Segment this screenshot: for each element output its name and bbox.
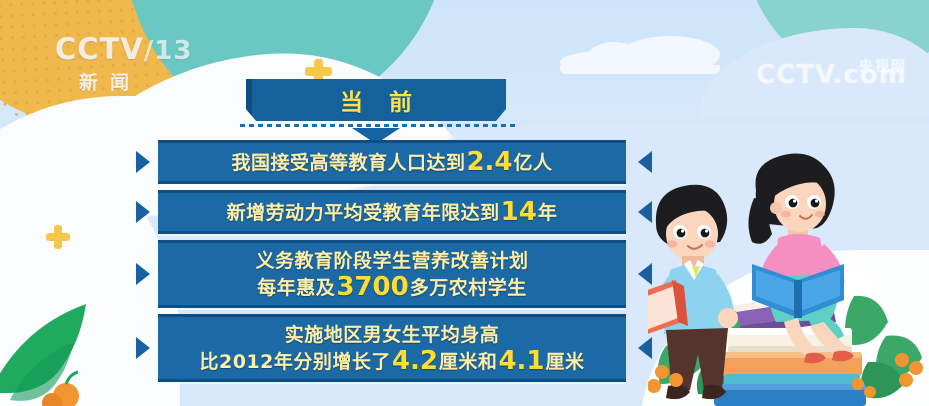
arrow-right-icon: [136, 151, 150, 173]
statistic-value: 4.1: [497, 346, 545, 376]
statistic-value: 14: [500, 197, 538, 227]
statistic-value: 3700: [335, 272, 409, 302]
cctv-logo-number: /13: [144, 36, 193, 66]
statistic-label: 厘米: [546, 351, 585, 373]
leaf-decoration-bottom-left: [0, 300, 160, 406]
statistic-text-line: 我国接受高等教育人口达到2.4亿人: [231, 149, 552, 176]
title-dashed-divider: [240, 124, 516, 127]
statistic-value: 2.4: [465, 147, 513, 177]
statistic-label: 比2012年分别增长了: [199, 351, 390, 373]
cctv-logo-subtitle: 新闻: [79, 68, 205, 95]
statistic-label: 实施地区男女生平均身高: [285, 324, 500, 346]
arrow-right-icon: [136, 201, 150, 223]
statistic-text-line: 每年惠及3700多万农村学生: [257, 274, 526, 301]
statistic-label: 多万农村学生: [410, 277, 527, 299]
cctv-channel-logo: CCTV/13 新闻: [55, 34, 205, 92]
statistic-label: 新增劳动力平均受教育年限达到: [227, 202, 500, 224]
title-bar: 当 前: [246, 79, 506, 121]
arrow-right-icon: [136, 263, 150, 285]
row-average-height-growth: 实施地区男女生平均身高比2012年分别增长了4.2厘米和4.1厘米: [158, 314, 626, 382]
title-bar-edge: [246, 79, 252, 121]
statistic-label: 义务教育阶段学生营养改善计划: [255, 250, 528, 272]
statistic-label: 亿人: [514, 152, 553, 174]
statistics-list: 我国接受高等教育人口达到2.4亿人新增劳动力平均受教育年限达到14年义务教育阶段…: [136, 140, 656, 388]
statistic-text-line: 新增劳动力平均受教育年限达到14年: [227, 199, 558, 226]
title-banner: 当 前: [246, 79, 506, 121]
cctv-logo-text: CCTV: [55, 32, 144, 66]
statistic-label: 年: [538, 202, 558, 224]
cloud-icon: [560, 36, 720, 74]
statistic-row: 实施地区男女生平均身高比2012年分别增长了4.2厘米和4.1厘米: [136, 314, 656, 382]
statistic-text-line: 义务教育阶段学生营养改善计划: [255, 248, 528, 274]
row-higher-education-population: 我国接受高等教育人口达到2.4亿人: [158, 140, 626, 184]
statistic-text-line: 比2012年分别增长了4.2厘米和4.1厘米: [199, 348, 584, 375]
infographic-stage: CCTV/13 新闻 央视网 CCTV.com 当 前 我国接受高等教育人口达到…: [0, 0, 929, 406]
plus-decoration-left-bar: [46, 233, 70, 241]
statistic-row: 新增劳动力平均受教育年限达到14年: [136, 190, 656, 234]
cctv-com-watermark: 央视网 CCTV.com: [717, 40, 907, 86]
cctv-logo-wordmark: CCTV/13: [55, 34, 205, 66]
row-average-education-years: 新增劳动力平均受教育年限达到14年: [158, 190, 626, 234]
statistic-label: 我国接受高等教育人口达到: [231, 152, 465, 174]
statistic-row: 我国接受高等教育人口达到2.4亿人: [136, 140, 656, 184]
statistic-label: 每年惠及: [257, 277, 335, 299]
plus-decoration-top-bar: [305, 67, 332, 76]
statistic-value: 4.2: [391, 346, 439, 376]
watermark-text: CCTV.com: [756, 52, 907, 98]
page-title: 当 前: [331, 83, 421, 117]
children-reading-illustration: [648, 146, 929, 406]
statistic-row: 义务教育阶段学生营养改善计划每年惠及3700多万农村学生: [136, 240, 656, 308]
statistic-label: 厘米和: [439, 351, 498, 373]
statistic-text-line: 实施地区男女生平均身高: [285, 322, 500, 348]
row-nutrition-improvement-plan: 义务教育阶段学生营养改善计划每年惠及3700多万农村学生: [158, 240, 626, 308]
